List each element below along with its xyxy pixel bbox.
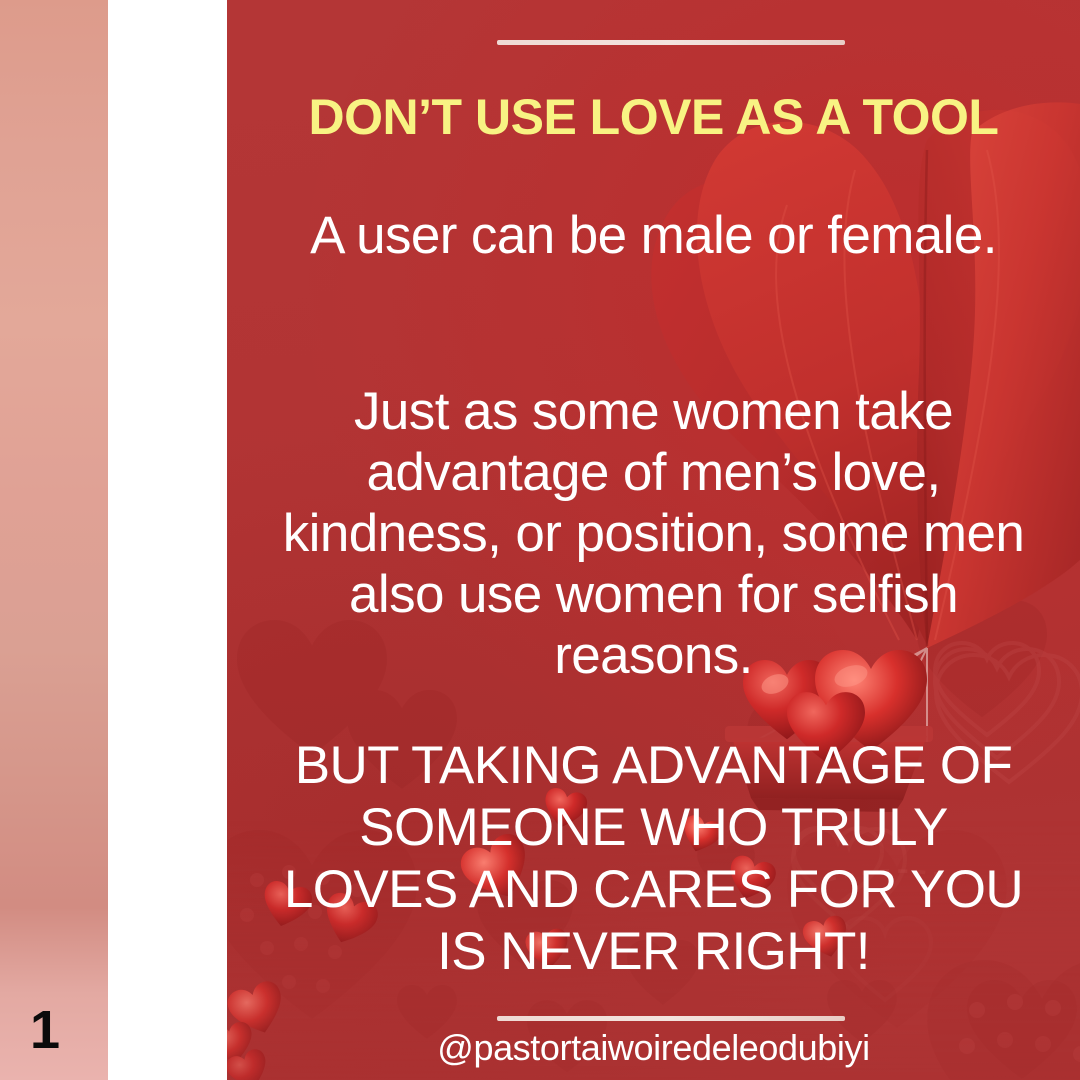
social-handle[interactable]: @pastortaiwoiredeleodubiyi: [227, 1024, 1080, 1072]
page-title: DON’T USE LOVE AS A TOOL: [227, 88, 1080, 146]
bottom-divider-rule: [497, 1016, 845, 1021]
paragraph-intro: A user can be male or female.: [267, 204, 1040, 267]
page-number: 1: [30, 1002, 60, 1058]
white-spacer-strip: [108, 0, 227, 1080]
paragraph-conclusion: BUT TAKING ADVANTAGE OF SOMEONE WHO TRUL…: [267, 735, 1040, 983]
paragraph-body: Just as some women take advantage of men…: [267, 381, 1040, 686]
peach-gradient-strip: [0, 0, 108, 1080]
poster-canvas: 1: [0, 0, 1080, 1080]
red-content-panel: DON’T USE LOVE AS A TOOL A user can be m…: [227, 0, 1080, 1080]
top-divider-rule: [497, 40, 845, 45]
poster-content: DON’T USE LOVE AS A TOOL A user can be m…: [227, 0, 1080, 1080]
